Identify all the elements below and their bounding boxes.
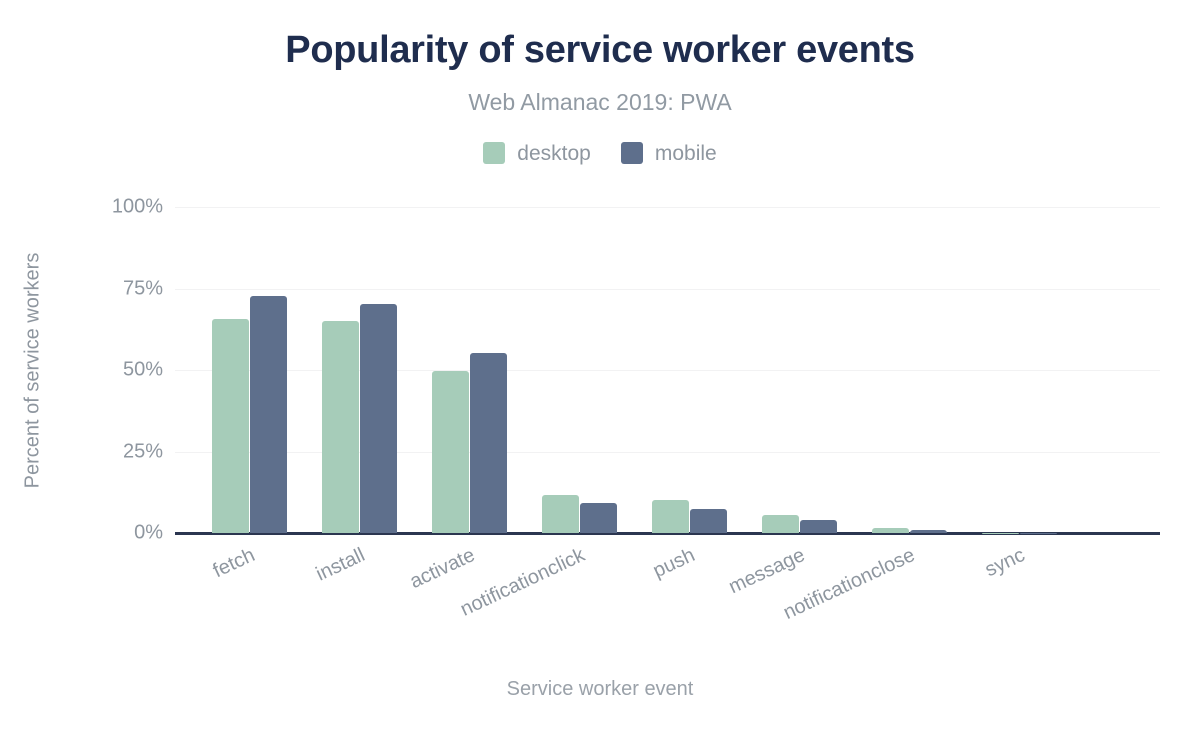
bar-group-notificationclick xyxy=(542,207,617,533)
bar-chart: Popularity of service worker events Web … xyxy=(0,0,1200,742)
x-axis-title: Service worker event xyxy=(0,678,1200,701)
x-axis-tick-label-notificationclick: notificationclick xyxy=(398,544,589,649)
bar-group-sync xyxy=(982,207,1057,533)
bar-install-desktop[interactable] xyxy=(322,321,359,533)
y-axis-title-label: Percent of service workers xyxy=(22,252,45,488)
bar-notificationclose-desktop[interactable] xyxy=(872,528,909,533)
chart-legend: desktopmobile xyxy=(0,142,1200,164)
y-axis-tick-label: 25% xyxy=(73,440,163,463)
bar-group-push xyxy=(652,207,727,533)
chart-subtitle: Web Almanac 2019: PWA xyxy=(0,89,1200,117)
x-axis-tick-label-fetch: fetch xyxy=(68,544,259,649)
legend-item-desktop[interactable]: desktop xyxy=(483,142,591,164)
x-axis-tick-label-notificationclose: notificationclose xyxy=(728,544,919,649)
page-title: Popularity of service worker events xyxy=(0,30,1200,72)
legend-item-label: desktop xyxy=(517,143,591,164)
plot-area: 0%25%50%75%100% xyxy=(175,207,1160,533)
y-axis-tick-label: 100% xyxy=(73,196,163,219)
y-axis-title: Percent of service workers xyxy=(18,207,48,533)
bar-fetch-mobile[interactable] xyxy=(250,296,287,533)
x-axis-tick-label-sync: sync xyxy=(838,544,1029,649)
bar-push-mobile[interactable] xyxy=(690,509,727,533)
x-axis-tick-label-message: message xyxy=(618,544,809,649)
x-axis-tick-label-install: install xyxy=(178,544,369,649)
bar-group-notificationclose xyxy=(872,207,947,533)
bar-activate-mobile[interactable] xyxy=(470,353,507,533)
legend-swatch-icon xyxy=(621,142,643,164)
bar-message-mobile[interactable] xyxy=(800,520,837,533)
y-axis-tick-label: 75% xyxy=(73,277,163,300)
bar-notificationclick-mobile[interactable] xyxy=(580,503,617,533)
legend-item-label: mobile xyxy=(655,143,717,164)
bar-notificationclose-mobile[interactable] xyxy=(910,530,947,533)
legend-swatch-icon xyxy=(483,142,505,164)
bar-group-fetch xyxy=(212,207,287,533)
bar-install-mobile[interactable] xyxy=(360,304,397,534)
bar-group-activate xyxy=(432,207,507,533)
x-axis-tick-label-activate: activate xyxy=(288,544,479,649)
bar-push-desktop[interactable] xyxy=(652,500,689,533)
bar-group-message xyxy=(762,207,837,533)
y-axis-tick-label: 0% xyxy=(73,522,163,545)
x-axis-tick-label-push: push xyxy=(508,544,699,649)
bar-group-install xyxy=(322,207,397,533)
bar-sync-desktop[interactable] xyxy=(982,533,1019,534)
bar-sync-mobile[interactable] xyxy=(1020,533,1057,534)
legend-item-mobile[interactable]: mobile xyxy=(621,142,717,164)
bar-activate-desktop[interactable] xyxy=(432,371,469,533)
bar-fetch-desktop[interactable] xyxy=(212,319,249,533)
y-axis-tick-label: 50% xyxy=(73,359,163,382)
bar-message-desktop[interactable] xyxy=(762,515,799,533)
bar-notificationclick-desktop[interactable] xyxy=(542,495,579,533)
